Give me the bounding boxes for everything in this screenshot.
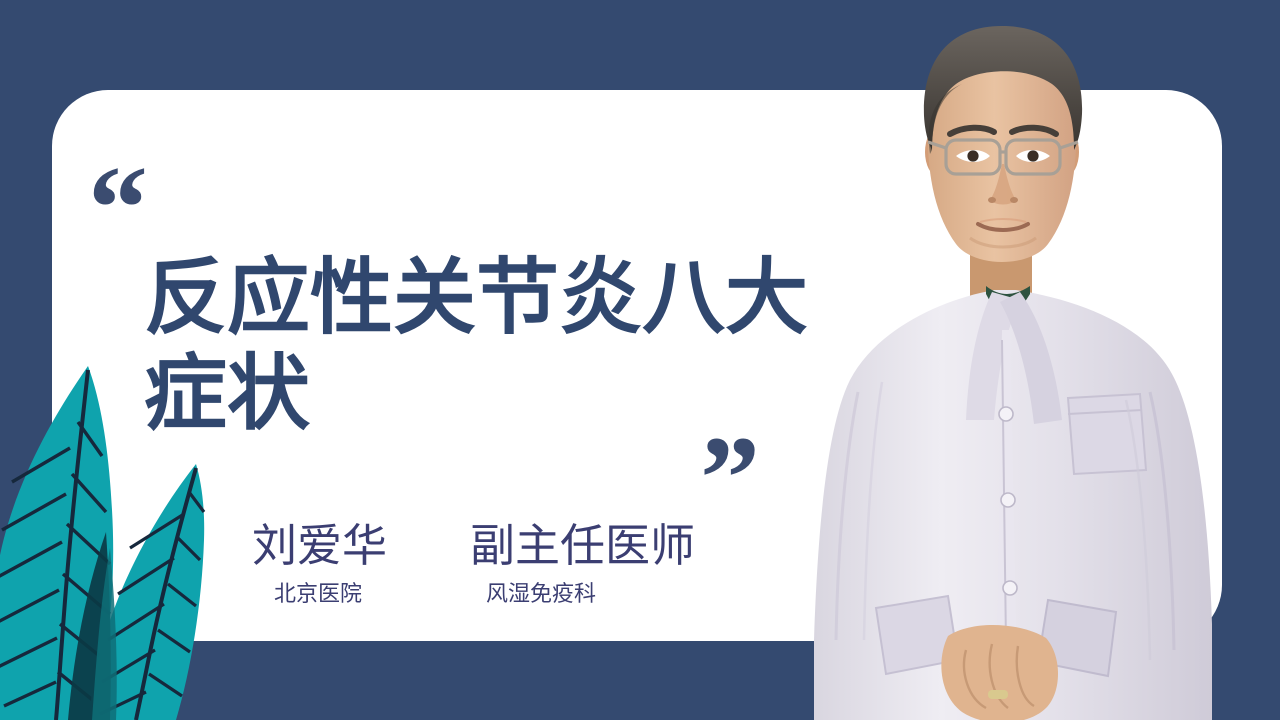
- department-name: 风湿免疫科: [486, 582, 676, 608]
- hospital-name: 北京医院: [274, 582, 442, 608]
- doctor-rank: 副主任医师: [470, 520, 660, 572]
- doctor-name: 刘爱华: [252, 520, 420, 572]
- wedding-ring: [988, 690, 1008, 699]
- byline-secondary-row: 北京医院 风湿免疫科: [252, 582, 676, 608]
- slide-canvas: “ 反应性关节炎八大 症状 ” 刘爱华 副主任医师 北京医院 风湿免疫科: [0, 0, 1280, 720]
- close-quote-icon: ”: [700, 418, 760, 538]
- open-quote-icon: “: [88, 148, 148, 268]
- title-line-1: 反应性关节炎八大: [144, 250, 844, 346]
- byline-primary-row: 刘爱华 副主任医师: [252, 520, 676, 572]
- byline: 刘爱华 副主任医师 北京医院 风湿免疫科: [252, 520, 676, 608]
